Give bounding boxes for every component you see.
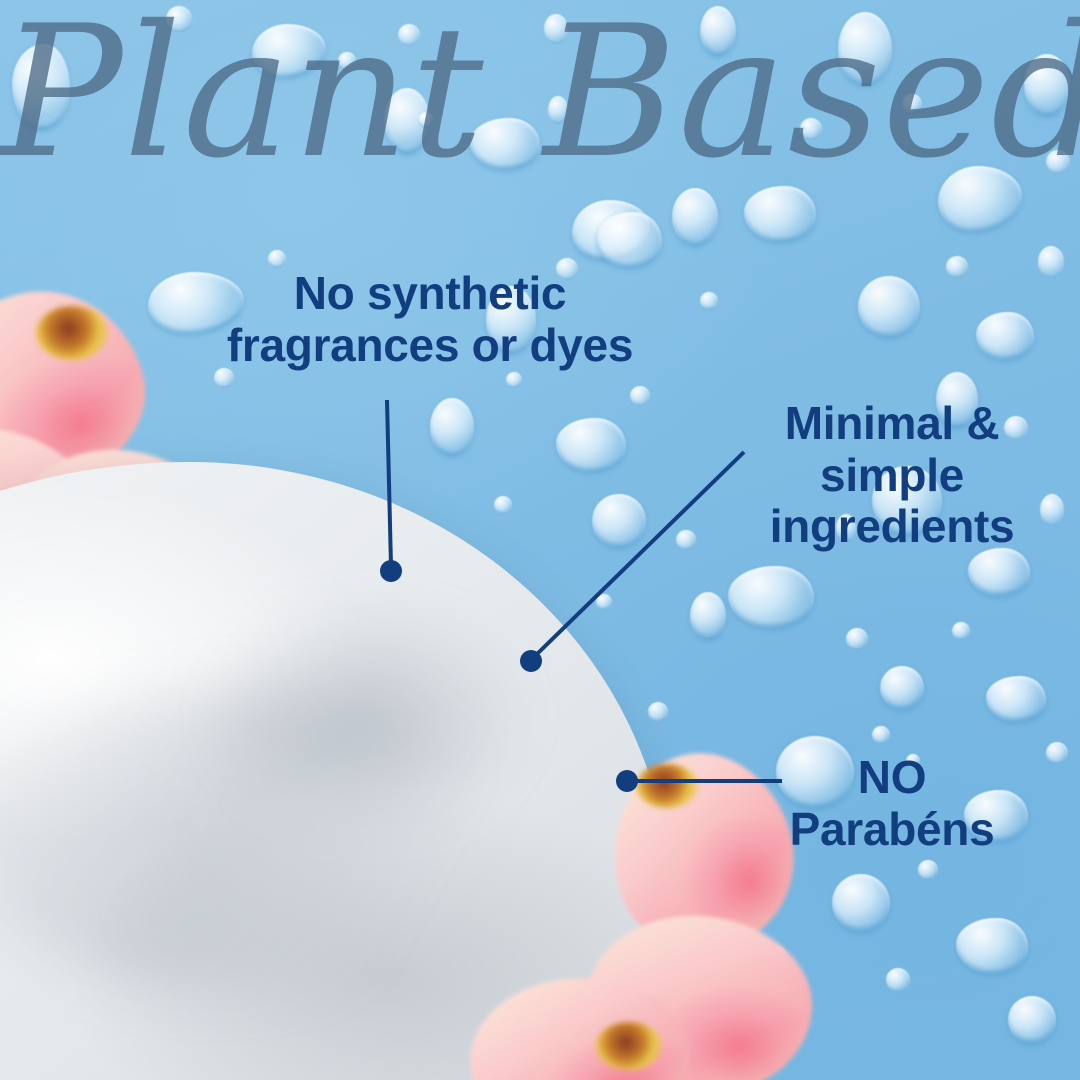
product-infographic: Plant Based No synthetic fragrances or d… [0,0,1080,1080]
callout-line: Parabéns [742,804,1042,856]
callout-minimal-simple-ingredients: Minimal & simple ingredients [742,398,1042,553]
callout-line: No synthetic [180,268,680,320]
callout-no-synthetic-fragrances: No synthetic fragrances or dyes [180,268,680,371]
callout-line: simple [742,450,1042,502]
callout-line: ingredients [742,501,1042,553]
callout-no-parabens: NO Parabéns [742,752,1042,855]
callout-line: NO [742,752,1042,804]
callout-line: Minimal & [742,398,1042,450]
callout-line: fragrances or dyes [180,320,680,372]
